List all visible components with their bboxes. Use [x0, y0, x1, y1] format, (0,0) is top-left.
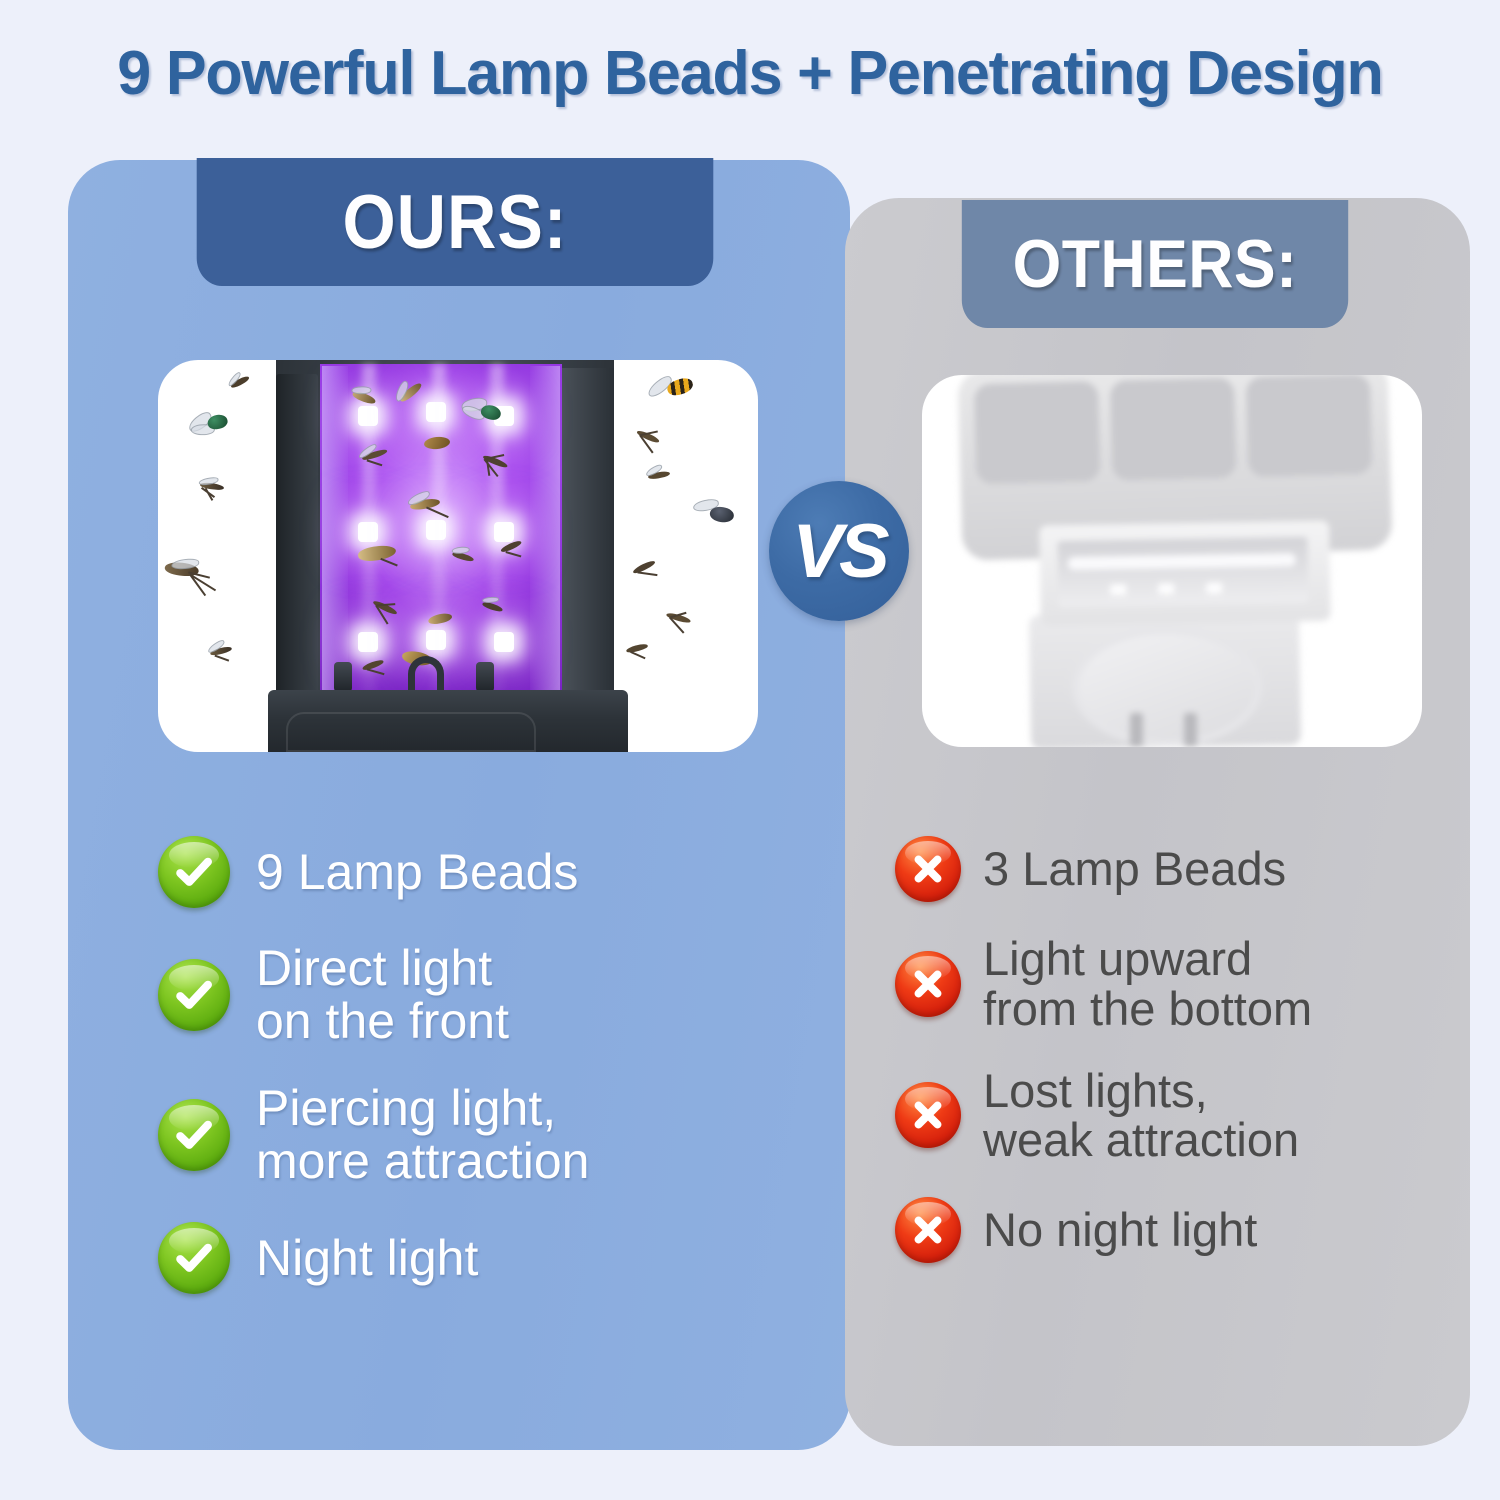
check-icon [158, 1099, 230, 1171]
list-item: Night light [158, 1222, 798, 1294]
list-item-label: 3 Lamp Beads [983, 844, 1286, 894]
device-prong [476, 662, 494, 692]
insect-mosquito [191, 476, 229, 497]
device-prong [334, 662, 352, 692]
list-item-label: Lost lights, weak attraction [983, 1066, 1299, 1166]
page-title: 9 Powerful Lamp Beads + Penetrating Desi… [11, 38, 1489, 109]
vs-label: VS [792, 508, 885, 595]
list-item-label: No night light [983, 1205, 1257, 1255]
vs-badge: VS [769, 481, 909, 621]
list-item: Lost lights, weak attraction [895, 1066, 1455, 1166]
list-item: 3 Lamp Beads [895, 836, 1455, 902]
list-item-label: Direct light on the front [256, 942, 509, 1048]
list-item: No night light [895, 1197, 1455, 1263]
insect-mosquito [625, 418, 672, 455]
insect-gnat [222, 367, 258, 396]
insect-beetle [419, 432, 455, 453]
uv-glass-right [530, 366, 560, 692]
cross-icon [895, 951, 961, 1017]
device-base-detail [286, 712, 536, 752]
competitor-light-slot [1039, 520, 1331, 625]
cross-icon [895, 1082, 961, 1148]
cross-icon [895, 1197, 961, 1263]
device-hook [408, 656, 444, 694]
ours-badge-label: OURS: [343, 179, 568, 266]
list-item: Light upward from the bottom [895, 934, 1455, 1034]
uv-glass-left [322, 366, 348, 692]
insect-mosquito [202, 638, 239, 664]
lamp-bead [358, 632, 378, 652]
others-feature-list: 3 Lamp Beads Light upward from the botto… [895, 836, 1455, 1295]
device-left-rail [276, 374, 318, 704]
list-item-label: Night light [256, 1232, 478, 1285]
list-item: 9 Lamp Beads [158, 836, 798, 908]
ours-product-image [158, 360, 758, 752]
insect-mosquito [641, 463, 680, 487]
competitor-dial [1072, 627, 1262, 747]
lamp-bead [426, 402, 446, 422]
competitor-prong [1184, 713, 1197, 747]
insect-mosquito [621, 548, 667, 585]
lamp-bead [358, 522, 378, 542]
list-item-label: Light upward from the bottom [983, 934, 1312, 1034]
check-icon [158, 836, 230, 908]
insect-fly [184, 408, 232, 443]
list-item: Piercing light, more attraction [158, 1082, 798, 1188]
insect-crane-fly [162, 557, 225, 597]
check-icon [158, 959, 230, 1031]
insect-mosquito [618, 634, 658, 662]
others-badge: OTHERS: [962, 200, 1348, 328]
lamp-bead [494, 632, 514, 652]
insect-mosquito [656, 601, 703, 636]
list-item-label: 9 Lamp Beads [256, 846, 578, 899]
competitor-prong [1130, 713, 1143, 747]
lamp-bead [426, 520, 446, 540]
list-item-label: Piercing light, more attraction [256, 1082, 589, 1188]
ours-badge: OURS: [197, 158, 714, 286]
device-right-rail [562, 368, 614, 706]
lamp-bead [426, 630, 446, 650]
check-icon [158, 1222, 230, 1294]
ours-feature-list: 9 Lamp Beads Direct light on the front P… [158, 836, 798, 1328]
others-product-image [922, 375, 1422, 747]
insect-wasp [643, 369, 702, 414]
list-item: Direct light on the front [158, 942, 798, 1048]
cross-icon [895, 836, 961, 902]
others-badge-label: OTHERS: [1013, 225, 1298, 303]
insect-bee [688, 497, 739, 529]
